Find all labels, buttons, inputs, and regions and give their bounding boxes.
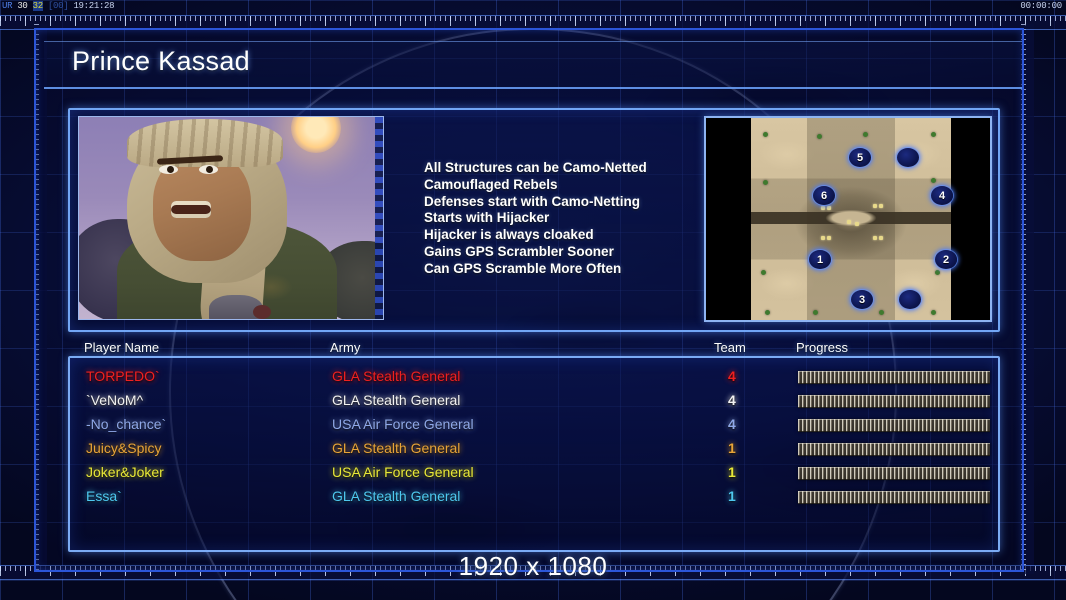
hud-label: UR <box>2 1 12 11</box>
player-army-cell: USA Air Force General <box>332 416 474 432</box>
map-tree-icon <box>761 270 766 275</box>
player-team-cell: 1 <box>728 464 736 480</box>
portrait-pupil-left <box>167 166 174 173</box>
table-row[interactable]: `VeNoM^GLA Stealth General4 <box>70 390 998 414</box>
map-start-position-marker: 1 <box>809 250 831 269</box>
general-portrait <box>78 116 384 320</box>
portrait-teapot <box>209 295 263 320</box>
map-resource-icon <box>827 206 831 210</box>
map-resource-icon <box>879 236 883 240</box>
map-tree-icon <box>935 270 940 275</box>
player-army-cell: USA Air Force General <box>332 464 474 480</box>
player-progress-bar <box>798 419 990 432</box>
map-tree-icon <box>763 180 768 185</box>
player-army-cell: GLA Stealth General <box>332 392 460 408</box>
hud-match-timer: 00:00:00 <box>1020 1 1062 11</box>
page-title: Prince Kassad <box>72 46 250 77</box>
ability-line: Hijacker is always cloaked <box>424 227 694 244</box>
map-tree-icon <box>765 310 770 315</box>
header-army: Army <box>330 340 360 355</box>
ability-line: Can GPS Scramble More Often <box>424 261 694 278</box>
ability-line: Camouflaged Rebels <box>424 177 694 194</box>
portrait-mouth <box>171 201 211 218</box>
general-abilities-list: All Structures can be Camo-Netted Camouf… <box>424 160 694 278</box>
hud-debug-readout: UR 30 32 [00] 19:21:28 <box>2 1 114 11</box>
table-row[interactable]: TORPEDO`GLA Stealth General4 <box>70 366 998 390</box>
map-resource-icon <box>821 206 825 210</box>
map-resource-icon <box>827 236 831 240</box>
table-row[interactable]: Joker&JokerUSA Air Force General1 <box>70 462 998 486</box>
ability-line: Defenses start with Camo-Netting <box>424 194 694 211</box>
map-tree-icon <box>813 310 818 315</box>
map-tree-icon <box>879 310 884 315</box>
map-tree-icon <box>763 132 768 137</box>
player-name-cell: `VeNoM^ <box>86 392 143 408</box>
map-river <box>751 206 951 230</box>
portrait-edge-strip <box>375 117 384 319</box>
map-tree-icon <box>931 178 936 183</box>
hud-highlight: 32 <box>33 1 43 11</box>
table-row[interactable]: Juicy&SpicyGLA Stealth General1 <box>70 438 998 462</box>
player-name-cell: Essa` <box>86 488 122 504</box>
map-terrain: 564123 <box>751 118 951 320</box>
map-preview[interactable]: 564123 <box>704 116 992 322</box>
map-tree-icon <box>863 132 868 137</box>
map-start-position-marker <box>899 290 921 309</box>
player-army-cell: GLA Stealth General <box>332 368 460 384</box>
map-resource-icon <box>847 220 851 224</box>
map-resource-icon <box>879 204 883 208</box>
table-row[interactable]: -No_chance`USA Air Force General4 <box>70 414 998 438</box>
map-start-position-marker: 2 <box>935 250 957 269</box>
map-resource-icon <box>873 236 877 240</box>
player-team-cell: 4 <box>728 392 736 408</box>
table-row[interactable]: Essa`GLA Stealth General1 <box>70 486 998 510</box>
player-team-cell: 4 <box>728 368 736 384</box>
map-tree-icon <box>931 132 936 137</box>
player-team-cell: 1 <box>728 440 736 456</box>
player-name-cell: Joker&Joker <box>86 464 164 480</box>
header-team: Team <box>714 340 746 355</box>
header-progress: Progress <box>796 340 848 355</box>
player-progress-bar <box>798 395 990 408</box>
ability-line: Gains GPS Scrambler Sooner <box>424 244 694 261</box>
hud-fps: 30 <box>17 1 27 11</box>
player-team-cell: 1 <box>728 488 736 504</box>
divider-line-top <box>0 15 1066 16</box>
map-resource-icon <box>873 204 877 208</box>
player-progress-bar <box>798 467 990 480</box>
hud-clock: 19:21:28 <box>73 1 114 11</box>
player-progress-bar <box>798 443 990 456</box>
portrait-pupil-right <box>206 166 213 173</box>
hud-bracket: [00] <box>48 1 68 11</box>
player-progress-bar <box>798 491 990 504</box>
ability-line: All Structures can be Camo-Netted <box>424 160 694 177</box>
player-team-cell: 4 <box>728 416 736 432</box>
map-resource-icon <box>855 222 859 226</box>
player-name-cell: TORPEDO` <box>86 368 160 384</box>
map-start-position-marker: 4 <box>931 186 953 205</box>
map-tree-icon <box>817 134 822 139</box>
resolution-label: 1920 x 1080 <box>0 551 1066 582</box>
map-tree-icon <box>931 310 936 315</box>
player-progress-bar <box>798 371 990 384</box>
ability-line: Starts with Hijacker <box>424 210 694 227</box>
map-start-position-marker: 5 <box>849 148 871 167</box>
map-start-position-marker <box>897 148 919 167</box>
map-start-position-marker: 6 <box>813 186 835 205</box>
player-army-cell: GLA Stealth General <box>332 440 460 456</box>
player-table-panel: TORPEDO`GLA Stealth General4`VeNoM^GLA S… <box>68 356 1000 552</box>
player-army-cell: GLA Stealth General <box>332 488 460 504</box>
player-name-cell: Juicy&Spicy <box>86 440 161 456</box>
map-resource-icon <box>821 236 825 240</box>
header-player-name: Player Name <box>84 340 159 355</box>
map-start-position-marker: 3 <box>851 290 873 309</box>
player-name-cell: -No_chance` <box>86 416 166 432</box>
